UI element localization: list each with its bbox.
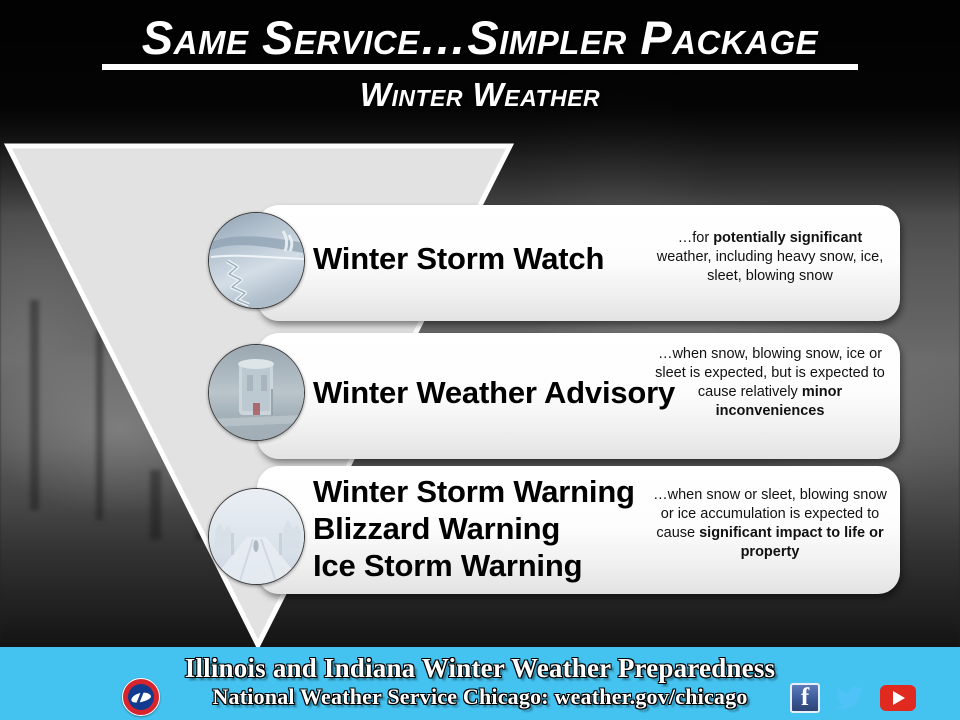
description-rest: weather, including heavy snow, ice, slee… [657, 249, 884, 284]
card-title-line: Blizzard Warning [313, 511, 635, 548]
title-underline [102, 64, 858, 70]
page-title: Same Service…Simpler Package [0, 0, 960, 62]
card-description: …when snow or sleet, blowing snow or ice… [652, 486, 888, 563]
ice-crack-photo-icon [208, 212, 305, 309]
card-title: Winter Weather Advisory [313, 375, 675, 411]
card-title-line: Winter Weather Advisory [313, 375, 675, 411]
youtube-icon[interactable] [880, 685, 916, 711]
card-title-line: Winter Storm Watch [313, 241, 604, 277]
card-title: Winter Storm Watch [313, 241, 604, 277]
header: Same Service…Simpler Package Winter Weat… [0, 0, 960, 140]
description-lead: …for [678, 230, 713, 246]
twitter-icon[interactable] [835, 683, 865, 713]
card-winter-storm-warning[interactable]: Winter Storm Warning Blizzard Warning Ic… [257, 466, 900, 594]
ice-covered-lighthouse-photo-icon [208, 344, 305, 441]
card-description: …when snow, blowing snow, ice or sleet i… [652, 345, 888, 422]
page-subtitle: Winter Weather [0, 76, 960, 114]
card-title-line: Ice Storm Warning [313, 548, 635, 585]
description-emphasis: significant impact to life or property [699, 525, 884, 560]
play-triangle-icon [893, 691, 905, 705]
card-title: Winter Storm Warning Blizzard Warning Ic… [313, 474, 635, 585]
card-winter-weather-advisory[interactable]: Winter Weather Advisory …when snow, blow… [257, 333, 900, 459]
nws-seal-icon [122, 678, 160, 716]
card-title-line: Winter Storm Warning [313, 474, 635, 511]
description-emphasis: potentially significant [713, 230, 862, 246]
poster: Same Service…Simpler Package Winter Weat… [0, 0, 960, 720]
snowy-road-blizzard-photo-icon [208, 488, 305, 585]
description-lead: …when snow, blowing snow, ice or sleet i… [655, 346, 885, 400]
card-winter-storm-watch[interactable]: Winter Storm Watch …for potentially sign… [257, 205, 900, 321]
facebook-icon[interactable]: f [790, 683, 820, 713]
facebook-glyph: f [792, 684, 818, 712]
card-description: …for potentially significant weather, in… [652, 229, 888, 286]
